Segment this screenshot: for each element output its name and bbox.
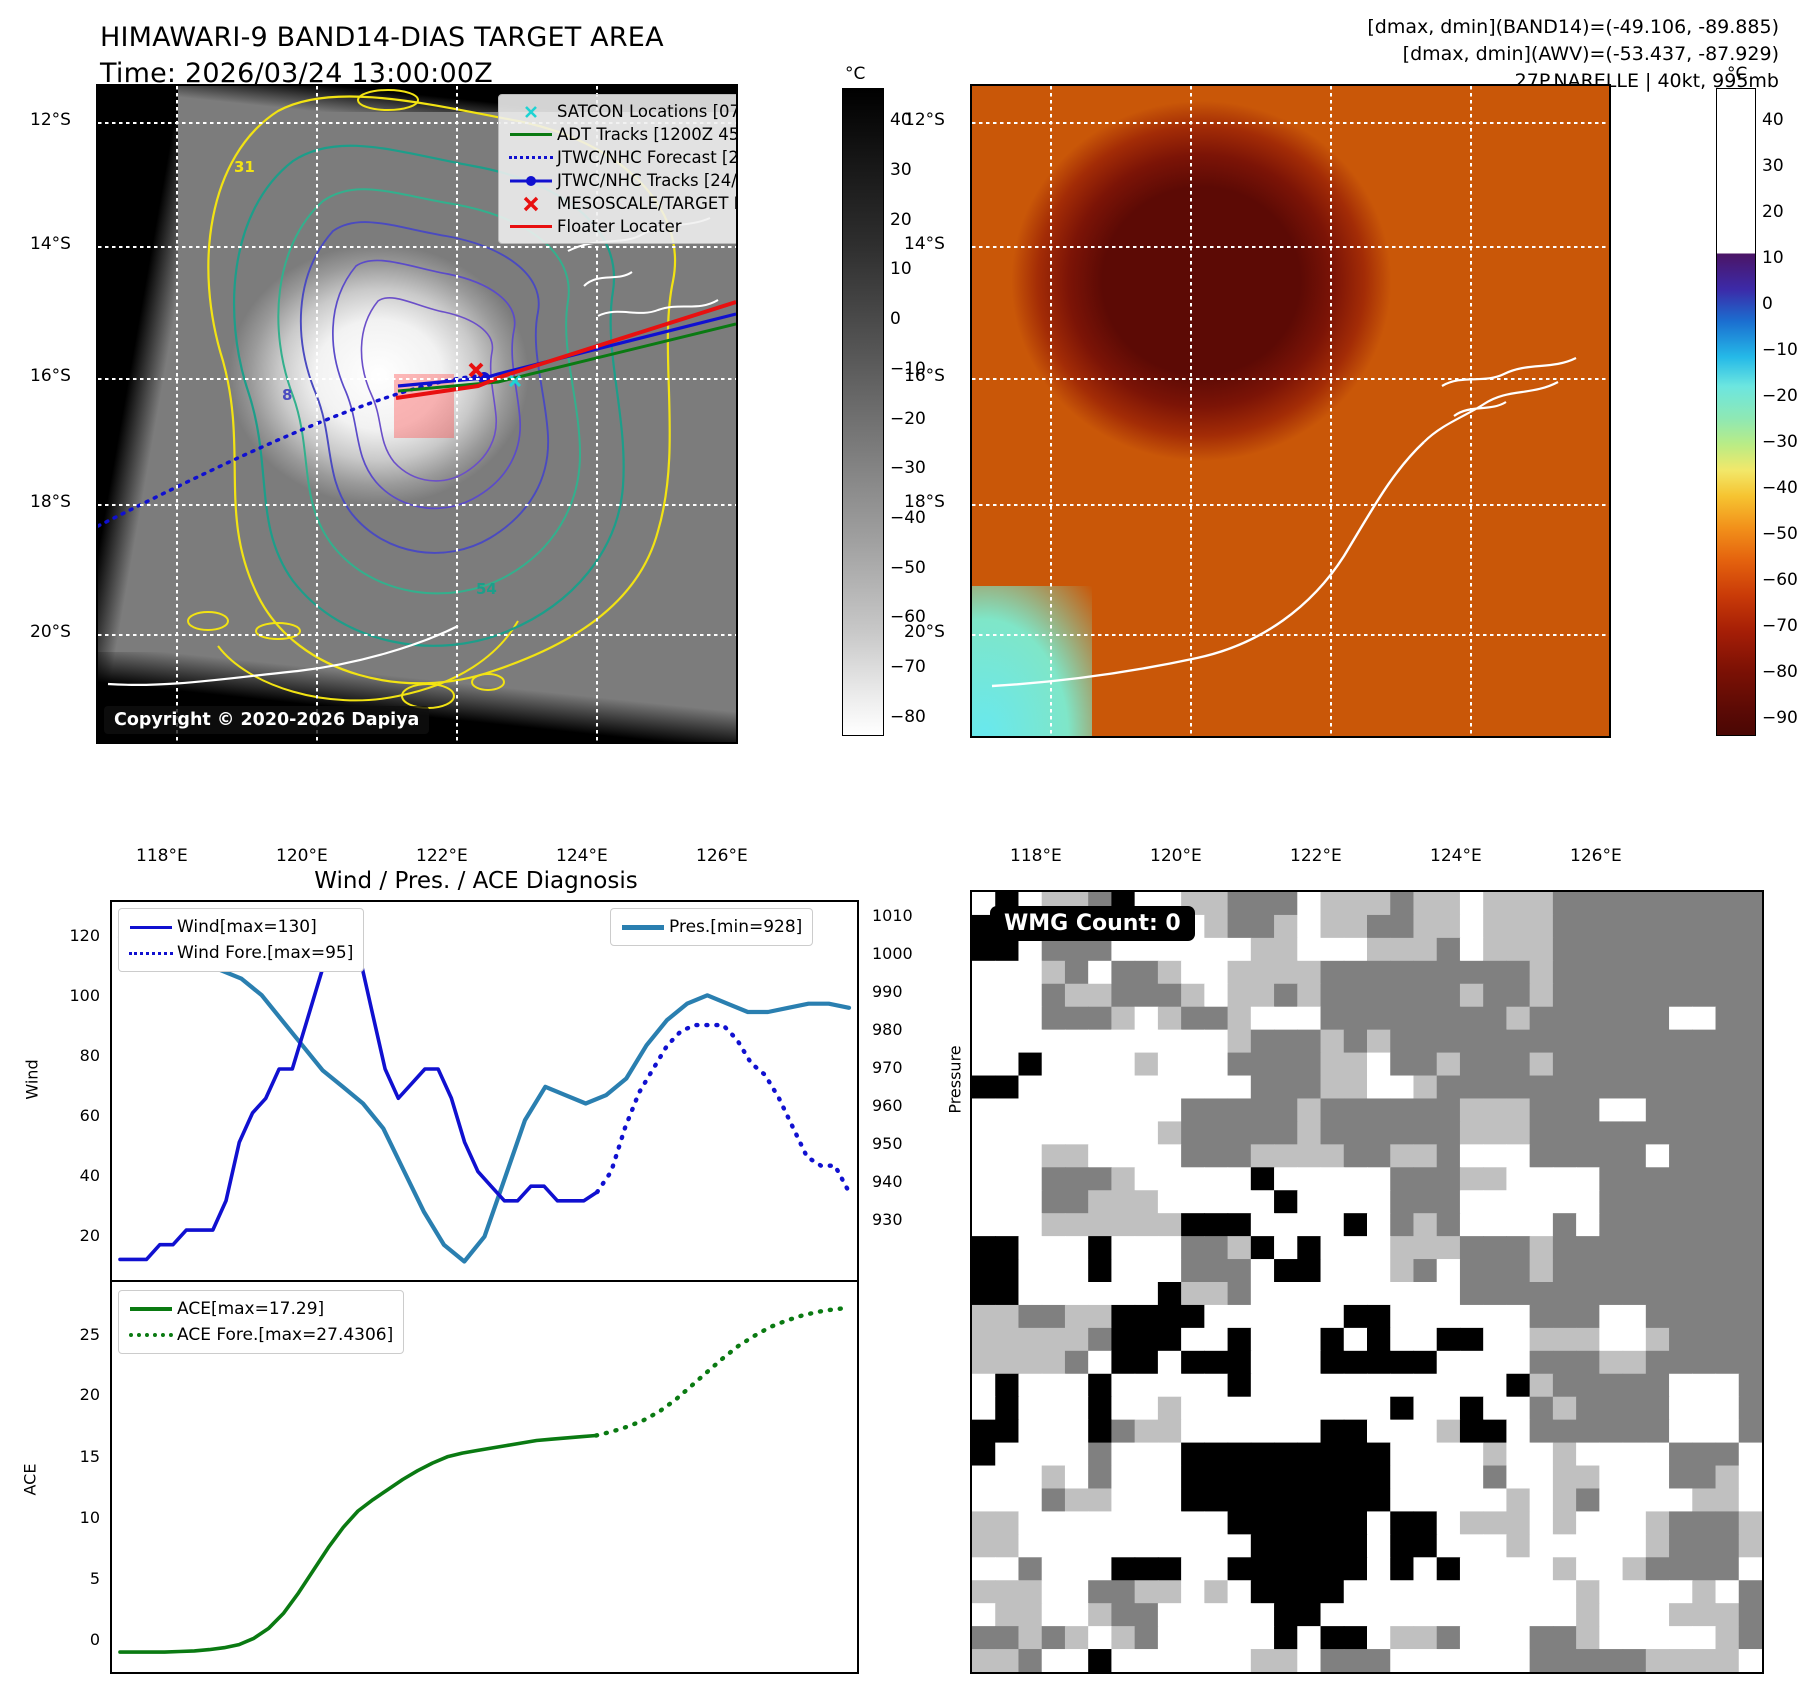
dotted-line-icon xyxy=(125,952,177,955)
grid-line-lat xyxy=(972,246,1609,248)
lat-tick-18s: 18°S xyxy=(30,492,71,512)
wind-ytick: 40 xyxy=(50,1166,100,1185)
legend-label: Floater Locater xyxy=(557,217,682,236)
ir-cbar-tick: −80 xyxy=(890,707,926,727)
lat-tick-18s-right: 18°S xyxy=(904,492,945,512)
wind-legend: Wind[max=130] Wind Fore.[max=95] xyxy=(118,908,364,972)
ace-axis-label: ACE xyxy=(21,1440,40,1520)
header-info-block: [dmax, dmin](BAND14)=(-49.106, -89.885) … xyxy=(1367,14,1779,95)
ir-cbar-tick: 20 xyxy=(890,210,912,230)
line-with-dot-icon xyxy=(505,174,557,188)
lon-tick-118e-right: 118°E xyxy=(1010,846,1062,866)
pres-ytick: 1010 xyxy=(872,906,932,925)
lat-tick-20s-right: 20°S xyxy=(904,622,945,642)
solid-line-icon xyxy=(125,926,177,929)
lon-tick-120e-right: 120°E xyxy=(1150,846,1202,866)
lat-tick-14s: 14°S xyxy=(30,234,71,254)
wind-ytick: 20 xyxy=(50,1226,100,1245)
wmg-panel[interactable]: WMG Count: 0 xyxy=(970,890,1764,1674)
lat-tick-12s: 12°S xyxy=(30,110,71,130)
lon-tick-118e: 118°E xyxy=(136,846,188,866)
x-marker-icon xyxy=(505,195,557,213)
ir-colorbar[interactable] xyxy=(842,88,884,736)
lon-tick-126e: 126°E xyxy=(696,846,748,866)
grid-line-lon xyxy=(176,86,178,742)
grid-line-lat xyxy=(972,122,1609,124)
enhanced-cbar-tick: 0 xyxy=(1762,294,1773,314)
enhanced-cbar-tick: 40 xyxy=(1762,110,1784,130)
contour-label-8: 8 xyxy=(282,386,292,404)
pres-ytick: 980 xyxy=(872,1020,932,1039)
grid-line-lat xyxy=(972,378,1609,380)
legend-item-jtwc-forecast[interactable]: JTWC/NHC Forecast [24/0600Z] xyxy=(505,146,738,169)
grid-line-lon xyxy=(736,86,738,742)
contour-label-54: 54 xyxy=(476,580,497,598)
solid-line-icon xyxy=(125,1307,177,1311)
legend-item-wind-forecast[interactable]: Wind Fore.[max=95] xyxy=(125,940,353,966)
lon-tick-122e: 122°E xyxy=(416,846,468,866)
wind-ytick: 100 xyxy=(50,986,100,1005)
enhanced-colorbar[interactable] xyxy=(1716,88,1756,736)
lat-tick-16s: 16°S xyxy=(30,366,71,386)
legend-label: JTWC/NHC Forecast [24/0600Z] xyxy=(557,148,738,167)
solid-line-icon xyxy=(505,225,557,228)
jtwc-track xyxy=(398,314,736,386)
ace-ytick: 10 xyxy=(50,1508,100,1527)
enhanced-cbar-tick: −10 xyxy=(1762,340,1797,360)
legend-item-mesoscale[interactable]: MESOSCALE/TARGET Location xyxy=(505,192,738,215)
pressure-legend: Pres.[min=928] xyxy=(610,908,813,946)
enhanced-cbar-tick: −40 xyxy=(1762,478,1797,498)
dotted-line-icon xyxy=(505,156,557,159)
legend-item-satcon[interactable]: SATCON Locations [0740Z 48 987] xyxy=(505,100,738,123)
legend-label: JTWC/NHC Tracks [24/0600Z] xyxy=(557,171,738,190)
lat-tick-20s: 20°S xyxy=(30,622,71,642)
contour-label-31: 31 xyxy=(234,158,255,176)
enhanced-colorbar-title: °C xyxy=(1727,64,1747,84)
lat-tick-12s-right: 12°S xyxy=(904,110,945,130)
dotted-line-icon xyxy=(125,1333,177,1337)
wmg-raster xyxy=(972,892,1762,1672)
title-line-1: HIMAWARI-9 BAND14-DIAS TARGET AREA xyxy=(100,20,664,56)
grid-line-lon xyxy=(1190,86,1192,736)
ir-cbar-tick: 0 xyxy=(890,309,901,329)
pres-ytick: 990 xyxy=(872,982,932,1001)
legend-label: ADT Tracks [1200Z 45.0 994.4] xyxy=(557,125,738,144)
legend-item-floater[interactable]: Floater Locater xyxy=(505,215,738,238)
coastline-overlay xyxy=(972,86,1609,736)
ir-cbar-tick: −20 xyxy=(890,409,926,429)
ir-map-legend: SATCON Locations [0740Z 48 987] ADT Trac… xyxy=(498,94,738,244)
enhanced-ir-map[interactable] xyxy=(970,84,1611,738)
pres-ytick: 970 xyxy=(872,1058,932,1077)
grid-line-lon xyxy=(456,86,458,742)
lat-tick-14s-right: 14°S xyxy=(904,234,945,254)
grid-line-lat xyxy=(98,504,736,506)
wind-ytick: 120 xyxy=(50,926,100,945)
page-title: HIMAWARI-9 BAND14-DIAS TARGET AREA Time:… xyxy=(100,20,664,92)
floater-locater-line xyxy=(396,302,736,398)
grid-line-lon xyxy=(316,86,318,742)
lat-tick-16s-right: 16°S xyxy=(904,366,945,386)
copyright-notice: Copyright © 2020-2026 Dapiya xyxy=(104,706,429,734)
lon-tick-120e: 120°E xyxy=(276,846,328,866)
enhanced-cbar-tick: 10 xyxy=(1762,248,1784,268)
grid-line-lat xyxy=(98,634,736,636)
legend-item-ace-forecast[interactable]: ACE Fore.[max=27.4306] xyxy=(125,1322,393,1348)
lon-tick-122e-right: 122°E xyxy=(1290,846,1342,866)
ir-cbar-tick: 30 xyxy=(890,160,912,180)
legend-item-pressure[interactable]: Pres.[min=928] xyxy=(617,914,802,940)
legend-label: MESOSCALE/TARGET Location xyxy=(557,194,738,213)
legend-item-wind[interactable]: Wind[max=130] xyxy=(125,914,353,940)
wind-axis-label: Wind xyxy=(23,1040,42,1120)
solid-line-icon xyxy=(617,925,669,930)
ir-cbar-tick: −50 xyxy=(890,558,926,578)
dmax-dmin-band14: [dmax, dmin](BAND14)=(-49.106, -89.885) xyxy=(1367,14,1779,41)
legend-label: Wind[max=130] xyxy=(177,917,317,937)
grid-line-lon xyxy=(1470,86,1472,736)
legend-label: Pres.[min=928] xyxy=(669,917,802,937)
legend-label: ACE Fore.[max=27.4306] xyxy=(177,1325,393,1345)
wind-ytick: 80 xyxy=(50,1046,100,1065)
pres-ytick: 930 xyxy=(872,1210,932,1229)
ir-cbar-tick: −30 xyxy=(890,458,926,478)
ir-colorbar-title: °C xyxy=(845,64,865,84)
legend-label: Wind Fore.[max=95] xyxy=(177,943,353,963)
grid-line-lon xyxy=(1330,86,1332,736)
grid-line-lat xyxy=(972,504,1609,506)
ir-cbar-tick: 10 xyxy=(890,259,912,279)
pressure-axis-label: Pressure xyxy=(946,1035,965,1125)
ir-cbar-tick: −70 xyxy=(890,657,926,677)
enhanced-cbar-tick: −80 xyxy=(1762,662,1797,682)
enhanced-cbar-tick: −20 xyxy=(1762,386,1797,406)
ace-ytick: 15 xyxy=(50,1447,100,1466)
legend-label: SATCON Locations [0740Z 48 987] xyxy=(557,102,738,121)
ir-grayscale-map[interactable]: 31 8 54 SATCON Locations [0740Z 48 987] … xyxy=(96,84,738,744)
ace-legend: ACE[max=17.29] ACE Fore.[max=27.4306] xyxy=(118,1290,404,1354)
wind-ytick: 60 xyxy=(50,1106,100,1125)
enhanced-cbar-tick: −50 xyxy=(1762,524,1797,544)
lon-tick-124e-right: 124°E xyxy=(1430,846,1482,866)
enhanced-cbar-tick: −70 xyxy=(1762,616,1797,636)
lon-tick-124e: 124°E xyxy=(556,846,608,866)
legend-label: ACE[max=17.29] xyxy=(177,1299,324,1319)
pres-ytick: 960 xyxy=(872,1096,932,1115)
grid-line-lat xyxy=(98,246,736,248)
grid-line-lat xyxy=(98,378,736,380)
ace-ytick: 20 xyxy=(50,1385,100,1404)
dmax-dmin-awv: [dmax, dmin](AWV)=(-53.437, -87.929) xyxy=(1367,41,1779,68)
pres-ytick: 950 xyxy=(872,1134,932,1153)
diagnosis-section-title: Wind / Pres. / ACE Diagnosis xyxy=(96,868,856,894)
ace-ytick: 0 xyxy=(50,1630,100,1649)
pres-ytick: 940 xyxy=(872,1172,932,1191)
pres-ytick: 1000 xyxy=(872,944,932,963)
enhanced-cbar-tick: −90 xyxy=(1762,708,1797,728)
enhanced-cbar-tick: −60 xyxy=(1762,570,1797,590)
grid-line-lat xyxy=(972,634,1609,636)
enhanced-cbar-tick: 20 xyxy=(1762,202,1784,222)
lon-tick-126e-right: 126°E xyxy=(1570,846,1622,866)
mesoscale-target-marker xyxy=(470,364,482,376)
wmg-count-badge: WMG Count: 0 xyxy=(990,906,1195,941)
grid-line-lon xyxy=(1050,86,1052,736)
solid-line-icon xyxy=(505,133,557,136)
x-marker-icon xyxy=(505,104,557,120)
ace-ytick: 25 xyxy=(50,1325,100,1344)
legend-item-ace[interactable]: ACE[max=17.29] xyxy=(125,1296,393,1322)
enhanced-cbar-tick: −30 xyxy=(1762,432,1797,452)
ace-ytick: 5 xyxy=(50,1569,100,1588)
legend-item-adt[interactable]: ADT Tracks [1200Z 45.0 994.4] xyxy=(505,123,738,146)
enhanced-cbar-tick: 30 xyxy=(1762,156,1784,176)
legend-item-jtwc-tracks[interactable]: JTWC/NHC Tracks [24/0600Z] xyxy=(505,169,738,192)
